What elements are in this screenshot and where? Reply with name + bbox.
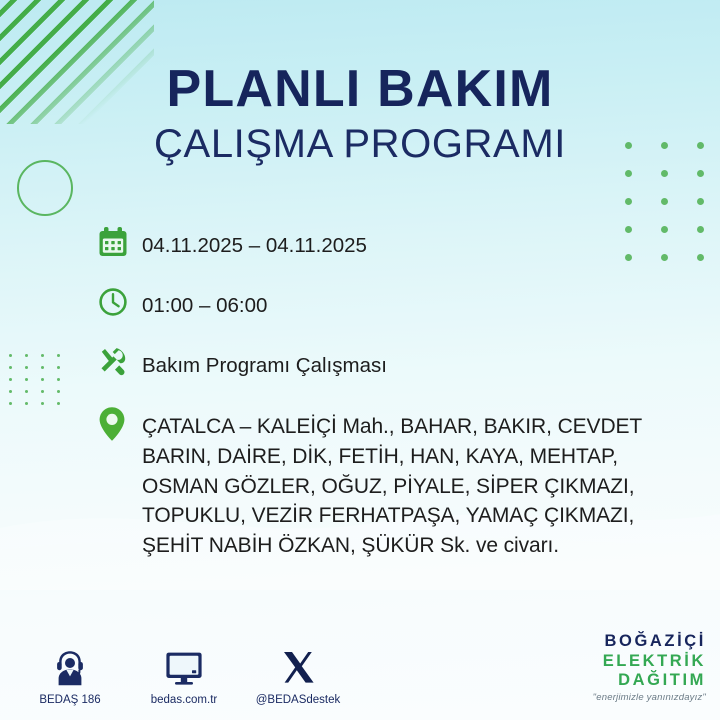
page-subtitle: ÇALIŞMA PROGRAMI [0,122,720,166]
detail-row-work-type: Bakım Programı Çalışması [98,346,698,388]
contact-phone[interactable]: BEDAŞ 186 [26,647,114,706]
x-twitter-icon [280,647,316,687]
contact-channels: BEDAŞ 186 bedas.com.tr [26,647,342,706]
brand-tagline: "enerjimizle yanınızdayız" [593,693,706,703]
calendar-icon [98,226,142,268]
brand-line-elektrik: ELEKTRİK [593,653,706,670]
address-line: TOPUKLU, VEZİR FERHATPAŞA, YAMAÇ ÇIKMAZI… [142,504,634,527]
bedas-logo: BOĞAZİÇİ ELEKTRİK DAĞITIM "enerjimizle y… [593,633,706,702]
contact-website[interactable]: bedas.com.tr [140,647,228,706]
detail-row-time: 01:00 – 06:00 [98,286,698,328]
call-center-agent-icon [52,647,88,687]
address-value: ÇATALCA – KALEİÇİ Mah., BAHAR, BAKIR, CE… [142,406,642,561]
dot-grid-left-decoration [9,354,73,414]
planned-maintenance-poster: PLANLI BAKIM ÇALIŞMA PROGRAMI [0,0,720,720]
location-pin-icon [98,406,142,448]
address-line: ÇATALCA – KALEİÇİ Mah., BAHAR, BAKIR, CE… [142,415,642,438]
brand-line-dagitim: DAĞITIM [593,672,706,689]
contact-x-account[interactable]: @BEDASdestek [254,647,342,706]
address-line: BARIN, DAİRE, DİK, FETİH, HAN, KAYA, MEH… [142,445,618,468]
circle-outline-decoration [17,160,73,216]
address-line: ŞEHİT NABİH ÖZKAN, ŞÜKÜR Sk. ve civarı. [142,534,559,557]
page-title: PLANLI BAKIM [0,62,720,116]
brand-line-bogazici: BOĞAZİÇİ [593,633,706,650]
poster-footer: BEDAŞ 186 bedas.com.tr [0,626,720,706]
contact-x-label: @BEDASdestek [256,694,341,706]
address-line: OSMAN GÖZLER, OĞUZ, PİYALE, SİPER ÇIKMAZ… [142,475,635,498]
contact-website-label: bedas.com.tr [151,694,217,706]
detail-row-date: 04.11.2025 – 04.11.2025 [98,226,698,268]
maintenance-details: 04.11.2025 – 04.11.2025 01:00 – 06:00 [98,226,698,561]
contact-phone-label: BEDAŞ 186 [39,694,100,706]
tools-icon [98,346,142,388]
work-type-value: Bakım Programı Çalışması [142,346,387,379]
monitor-icon [164,647,204,687]
time-range-value: 01:00 – 06:00 [142,286,267,319]
poster-header: PLANLI BAKIM ÇALIŞMA PROGRAMI [0,62,720,166]
clock-icon [98,286,142,328]
date-range-value: 04.11.2025 – 04.11.2025 [142,226,367,259]
detail-row-address: ÇATALCA – KALEİÇİ Mah., BAHAR, BAKIR, CE… [98,406,698,561]
